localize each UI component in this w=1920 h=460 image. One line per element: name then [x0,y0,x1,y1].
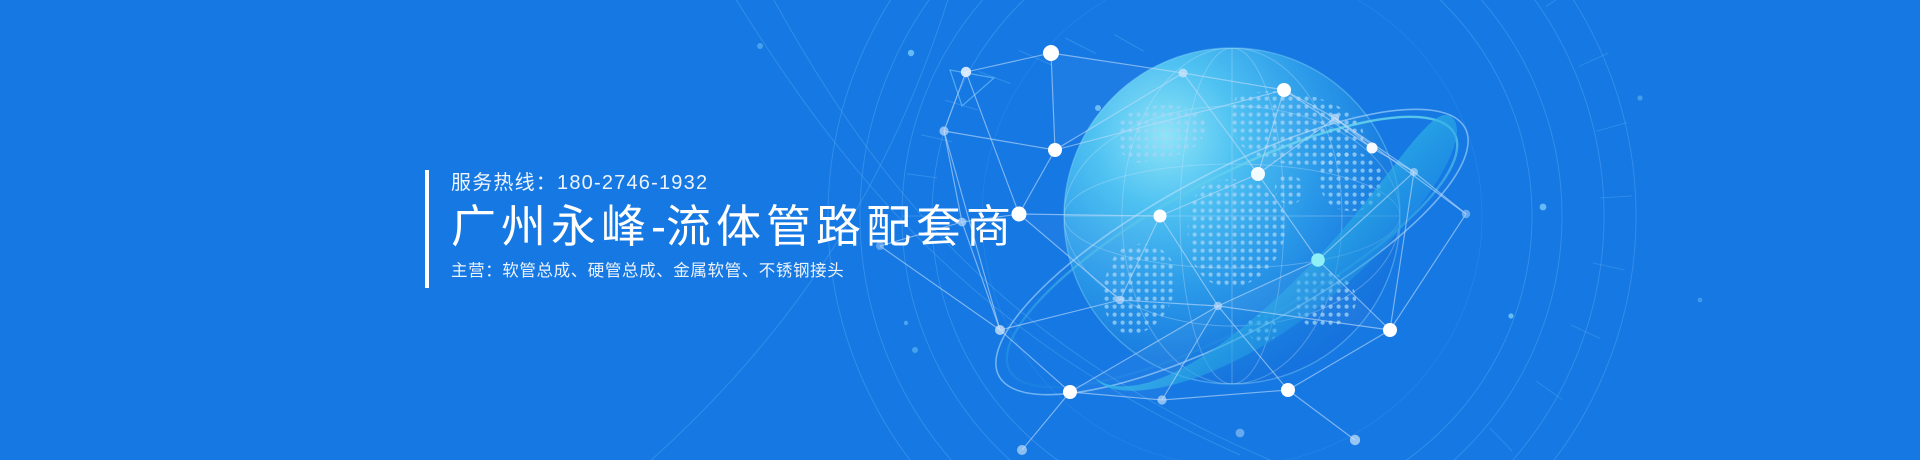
globe-sphere [1064,48,1400,384]
orbit-ring-crescent [1063,111,1506,423]
headline-dash: - [651,201,666,252]
business-scope: 主营：软管总成、硬管总成、金属软管、不锈钢接头 [451,260,1016,282]
headline-prefix: 广州永峰 [451,201,651,252]
service-hotline: 服务热线：180-2746-1932 [451,170,1016,196]
hero-banner: 服务热线：180-2746-1932 广州永峰-流体管路配套商 主营：软管总成、… [0,0,1920,460]
network-facets [1019,53,1390,400]
globe-continents [1103,91,1384,343]
triangle-marker-icon [950,70,994,106]
globe-graticule [1064,48,1400,384]
orbit-ring-group [961,57,1502,446]
page-title: 广州永峰-流体管路配套商 [451,200,1016,254]
headline-suffix: 流体管路配套商 [666,201,1016,252]
globe-rim [1064,48,1400,384]
banner-text-block: 服务热线：180-2746-1932 广州永峰-流体管路配套商 主营：软管总成、… [425,170,1016,288]
